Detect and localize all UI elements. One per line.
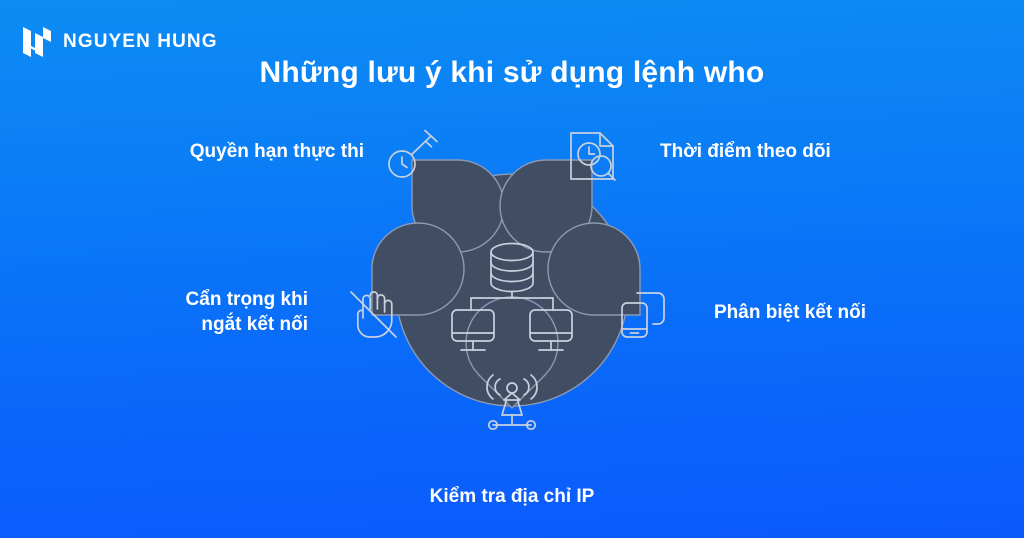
node-label-caution: Cẩn trọng khi ngắt kết nối — [186, 287, 308, 338]
node-label-connection: Phân biệt kết nối — [714, 300, 866, 325]
node-label-time: Thời điểm theo dõi — [660, 139, 831, 164]
node-label-ip: Kiểm tra địa chỉ IP — [0, 484, 1024, 509]
infographic-stage: Quyền hạn thực thi Thời điểm theo dõi Cẩ… — [0, 0, 1024, 538]
node-label-permission: Quyền hạn thực thi — [190, 139, 364, 164]
radial-pin-diagram — [320, 100, 704, 460]
